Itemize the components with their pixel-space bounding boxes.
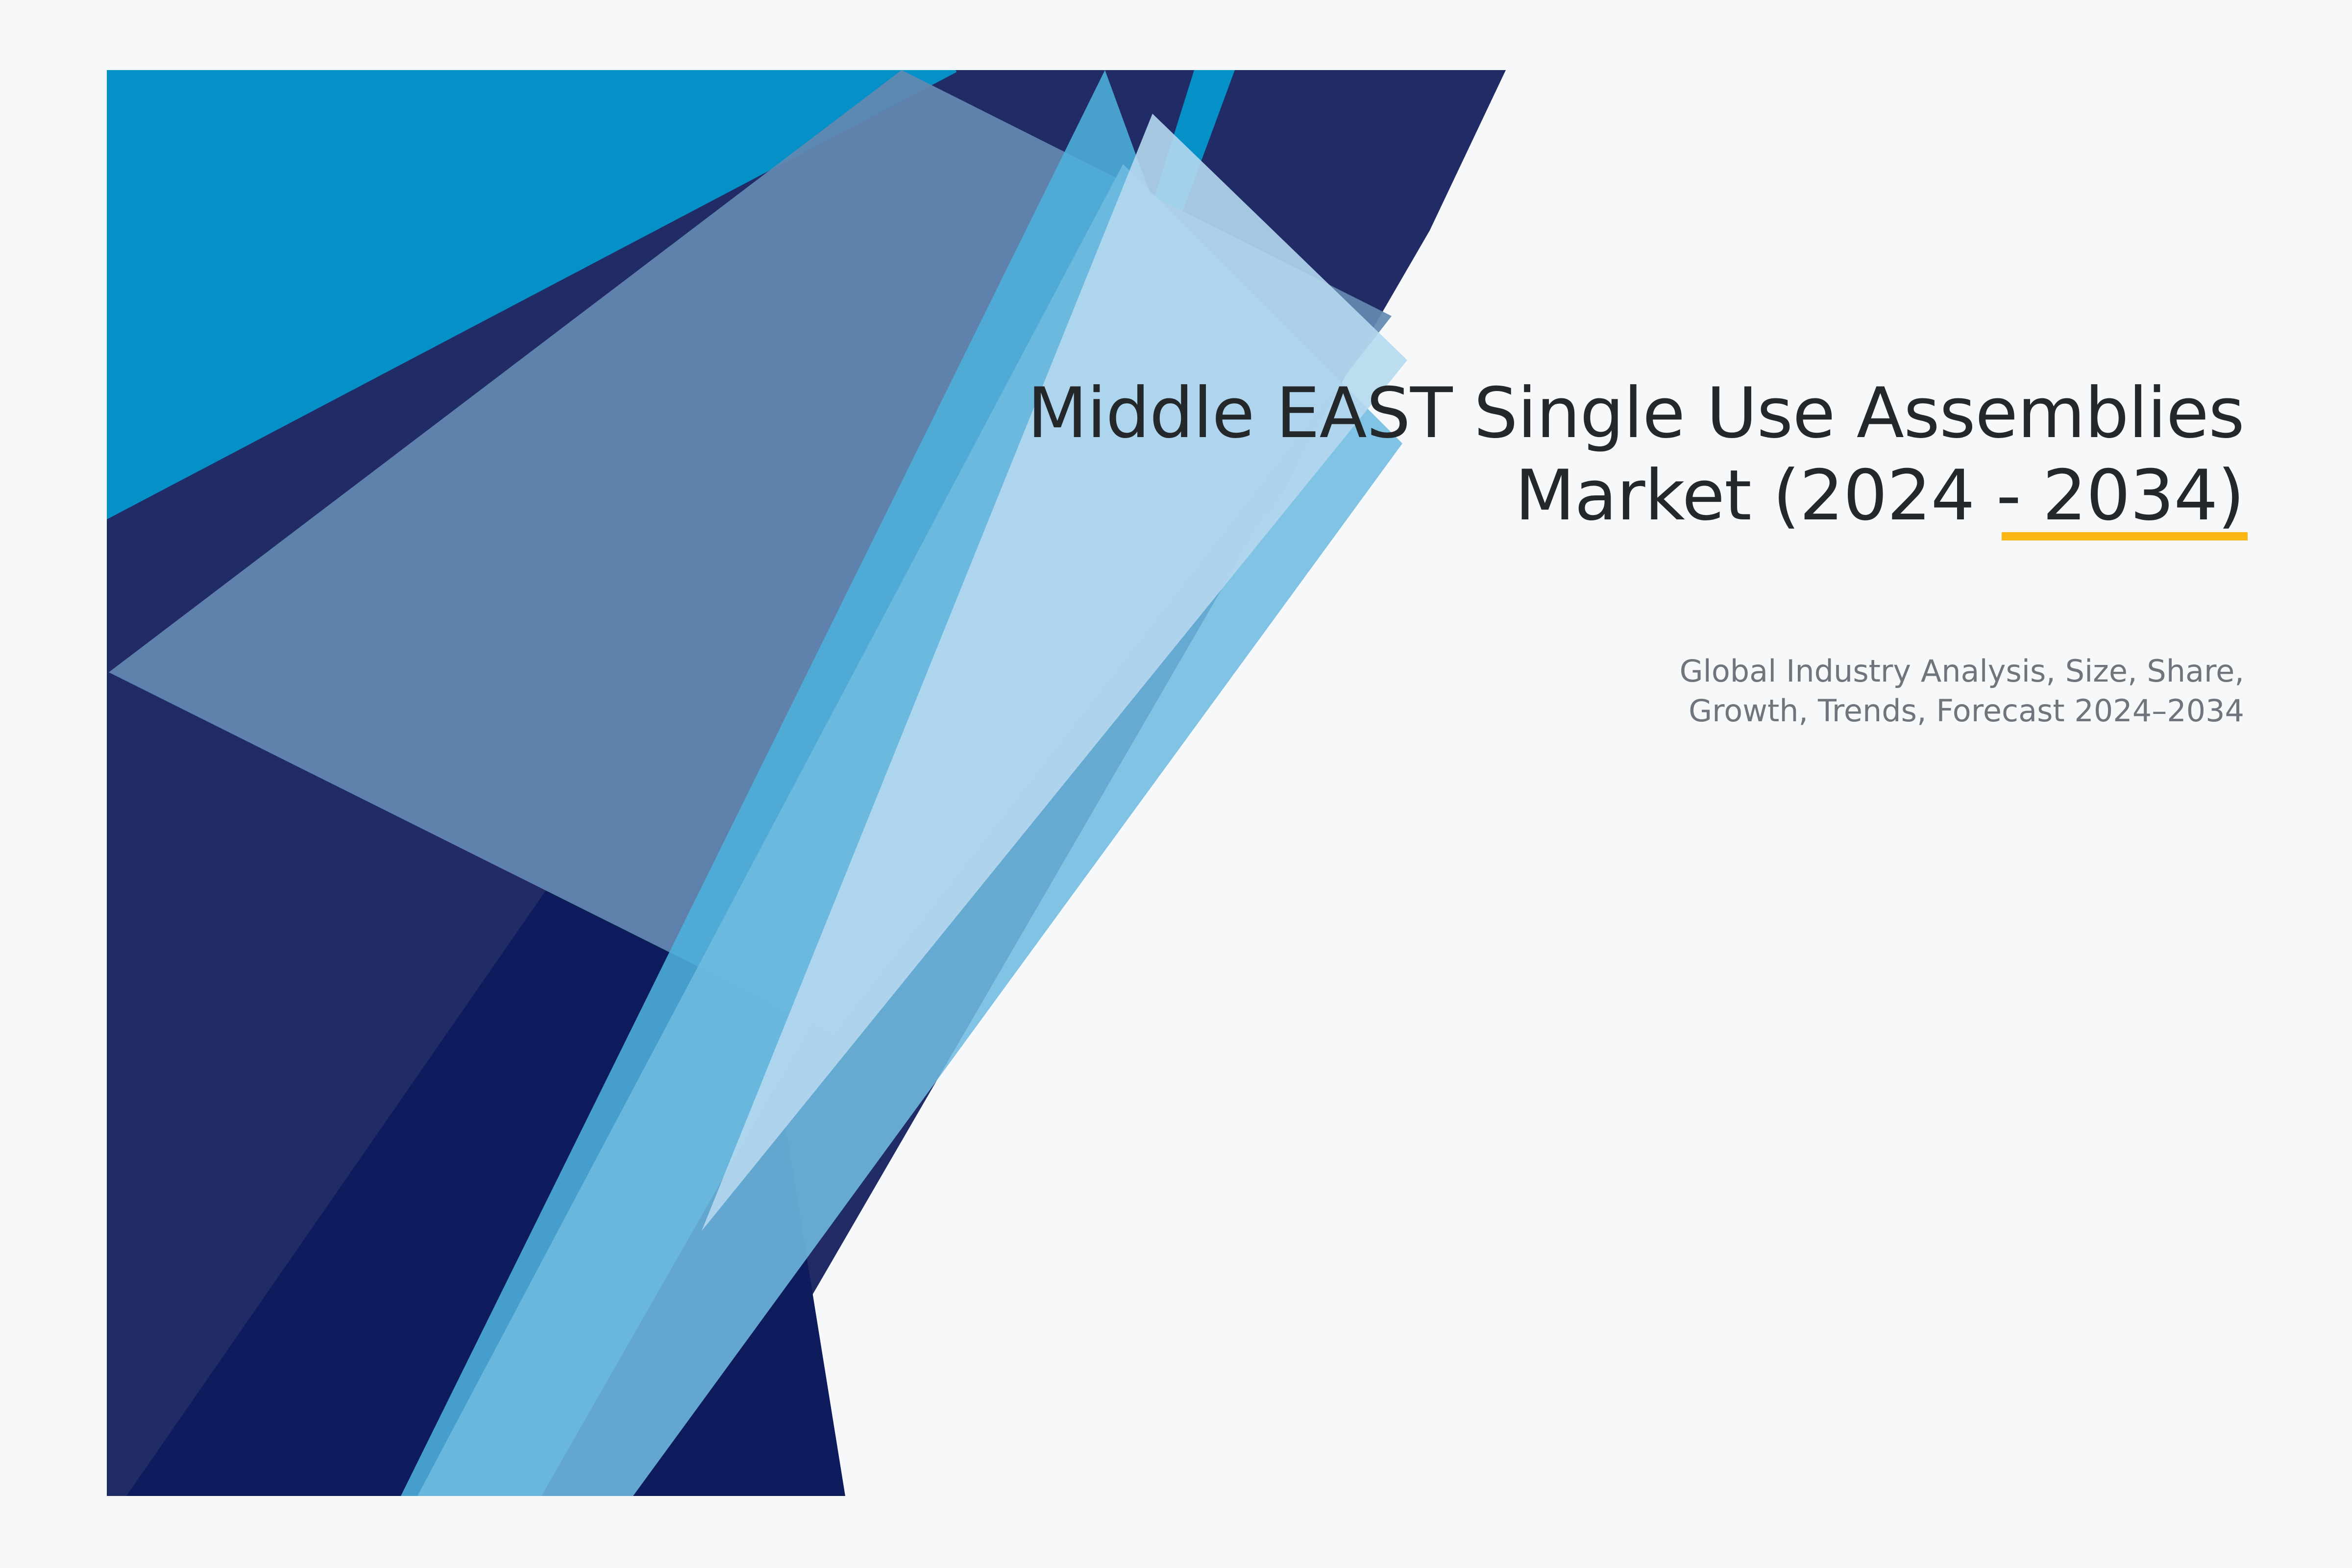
report-title-line-2: Market (2024 - 2034): [1515, 455, 2244, 536]
report-title-line-1: Middle EAST Single Use Assemblies: [1028, 373, 2244, 454]
abstract-polygon-cover-graphic: [0, 0, 2352, 1568]
title-accent-underline: [2002, 532, 2248, 540]
artwork-bottom-trim: [0, 1496, 2352, 1568]
report-title-heading: Middle EAST Single Use Assemblies Market…: [833, 372, 2244, 537]
artwork-left-trim: [0, 0, 107, 1568]
report-cover-page: Middle EAST Single Use Assemblies Market…: [0, 0, 2352, 1568]
report-subtitle-text: Global Industry Analysis, Size, Share, G…: [1421, 652, 2244, 731]
report-subtitle-line-2: Growth, Trends, Forecast 2024–2034: [1689, 693, 2244, 729]
artwork-top-trim: [0, 0, 2352, 70]
report-subtitle-block: Global Industry Analysis, Size, Share, G…: [1421, 652, 2244, 731]
report-subtitle-line-1: Global Industry Analysis, Size, Share,: [1680, 653, 2244, 689]
page-title: Middle EAST Single Use Assemblies Market…: [833, 372, 2244, 537]
